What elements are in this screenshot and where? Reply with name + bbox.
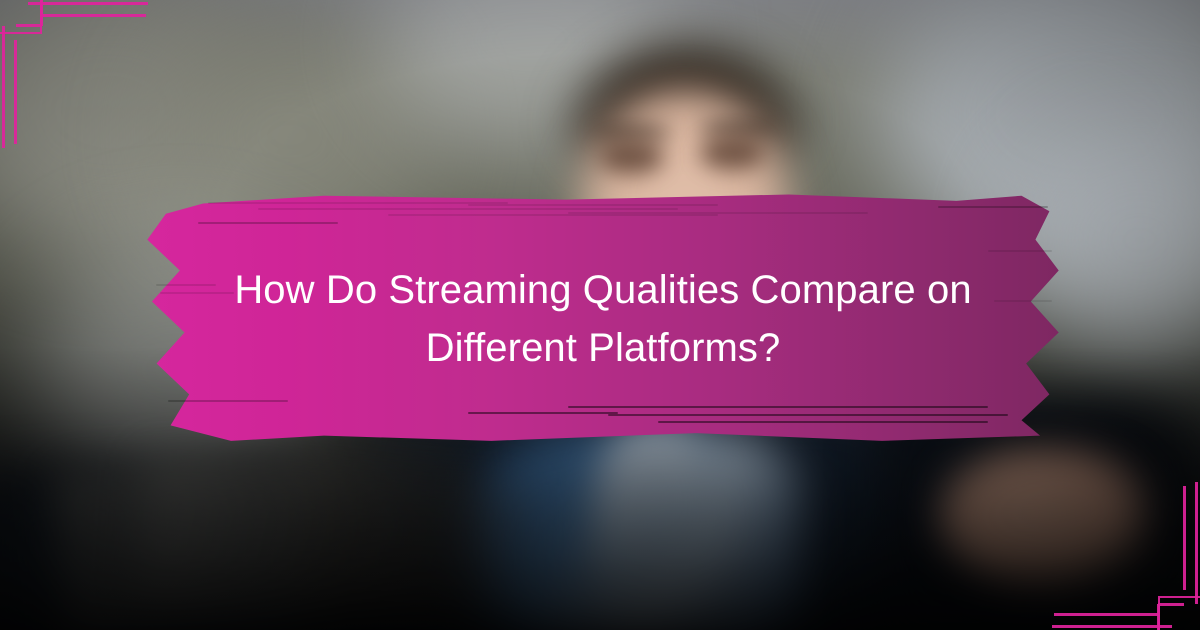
corner-line-vertical: [2, 26, 5, 148]
brush-streak: [938, 206, 1048, 208]
brush-streak: [168, 400, 288, 402]
corner-line-elbow: [1158, 604, 1184, 607]
hero-card: How Do Streaming Qualities Compare on Di…: [0, 0, 1200, 630]
photo-subject-brow: [698, 120, 776, 136]
photo-subject-brow: [594, 124, 672, 140]
brush-streak: [208, 202, 508, 204]
brush-streak: [568, 406, 988, 408]
brush-streak: [198, 222, 338, 224]
corner-line-horizontal: [1052, 626, 1172, 629]
photo-newspaper: [135, 457, 525, 630]
corner-square-icon: [0, 0, 42, 34]
corner-line-horizontal: [1054, 614, 1158, 617]
corner-line-elbow: [1158, 604, 1161, 630]
brush-streak: [658, 421, 988, 423]
brush-streak: [468, 204, 718, 206]
corner-line-elbow: [16, 24, 42, 27]
corner-line-horizontal: [28, 2, 148, 5]
corner-line-vertical: [1184, 486, 1187, 590]
photo-subject-eye: [700, 136, 764, 170]
brush-streak: [568, 212, 868, 214]
corner-bracket-bottom-right: [1080, 460, 1200, 630]
corner-line-vertical: [1196, 482, 1199, 604]
brush-streak: [468, 412, 618, 414]
brush-streak: [988, 250, 1052, 252]
brush-streak: [258, 208, 678, 210]
brush-streak: [608, 414, 1008, 416]
corner-line-horizontal: [42, 14, 146, 17]
photo-subject-eye: [600, 140, 664, 174]
brush-streak: [388, 214, 718, 216]
corner-line-vertical: [14, 40, 17, 144]
photo-subject-collar: [596, 426, 716, 616]
corner-line-elbow: [40, 0, 43, 26]
corner-bracket-top-left: [0, 0, 120, 170]
page-title: How Do Streaming Qualities Compare on Di…: [190, 262, 1016, 377]
